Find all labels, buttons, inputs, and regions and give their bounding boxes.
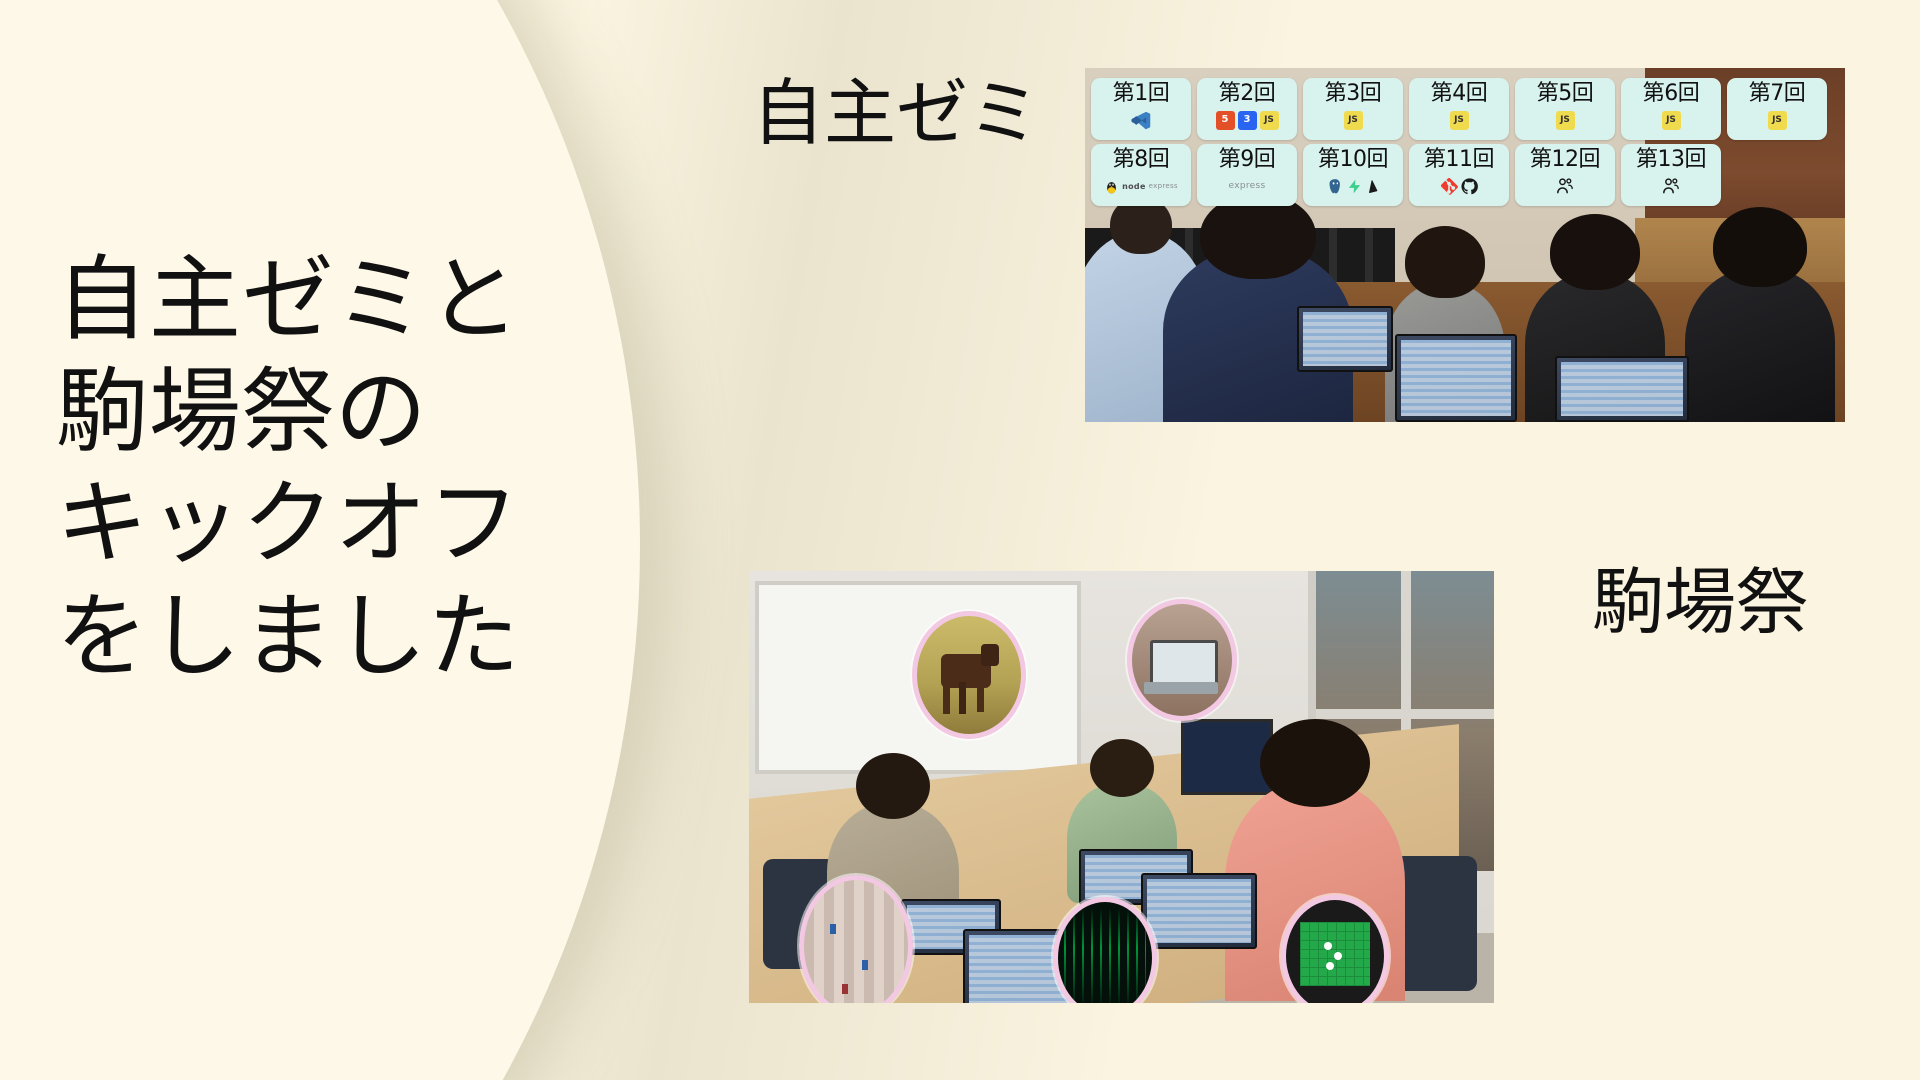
css3-icon: 3 — [1238, 111, 1257, 130]
page-title: 自主ゼミと 駒場祭の キックオフ をしました — [56, 244, 521, 693]
session-card-label: 第3回 — [1325, 82, 1382, 105]
people-icon — [1661, 176, 1681, 196]
session-card-10[interactable]: 第10回 — [1303, 144, 1403, 206]
session-card-1[interactable]: 第1回 — [1091, 78, 1191, 140]
session-card-4[interactable]: 第4回 JS — [1409, 78, 1509, 140]
horse-photo-bubble[interactable] — [912, 611, 1026, 739]
photo-komabasai — [749, 571, 1494, 1003]
session-card-label: 第12回 — [1530, 148, 1600, 171]
vscode-icon — [1131, 110, 1152, 131]
javascript-icon: JS — [1662, 111, 1681, 130]
linux-icon — [1104, 178, 1119, 195]
github-icon — [1461, 178, 1478, 195]
git-icon — [1441, 178, 1458, 195]
javascript-icon: JS — [1344, 111, 1363, 130]
student-5 — [1685, 267, 1835, 422]
laptop-right — [1141, 873, 1257, 949]
session-card-grid: 第1回 第2回 5 3 JS 第3回 JS — [1091, 78, 1843, 206]
express-icon: express — [1149, 182, 1178, 190]
laptop-photo-bubble[interactable] — [1127, 599, 1237, 721]
session-card-3[interactable]: 第3回 JS — [1303, 78, 1403, 140]
prisma-icon — [1365, 178, 1379, 195]
matrix-screen-bubble[interactable] — [1053, 897, 1157, 1003]
session-card-row-1: 第1回 第2回 5 3 JS 第3回 JS — [1091, 78, 1843, 140]
session-card-label: 第2回 — [1219, 82, 1276, 105]
caption-jishu-zemi: 自主ゼミ — [752, 77, 1040, 149]
session-card-label: 第4回 — [1431, 82, 1488, 105]
laptop-1 — [1297, 306, 1393, 372]
session-card-5[interactable]: 第5回 JS — [1515, 78, 1615, 140]
laptop-3 — [1555, 356, 1689, 422]
session-card-11[interactable]: 第11回 — [1409, 144, 1509, 206]
laptop-2 — [1395, 334, 1517, 422]
javascript-icon: JS — [1260, 111, 1279, 130]
javascript-icon: JS — [1556, 111, 1575, 130]
session-card-8[interactable]: 第8回 node express — [1091, 144, 1191, 206]
headline-line-3: キックオフ — [56, 468, 521, 580]
session-card-label: 第1回 — [1113, 82, 1170, 105]
supabase-icon — [1347, 178, 1362, 195]
session-card-label: 第11回 — [1424, 148, 1494, 171]
caption-komabasai: 駒場祭 — [1592, 566, 1808, 638]
session-card-label: 第7回 — [1749, 82, 1806, 105]
session-card-label: 第13回 — [1636, 148, 1706, 171]
html5-icon: 5 — [1216, 111, 1235, 130]
session-card-label: 第8回 — [1113, 148, 1170, 171]
session-card-2[interactable]: 第2回 5 3 JS — [1197, 78, 1297, 140]
session-card-6[interactable]: 第6回 JS — [1621, 78, 1721, 140]
session-card-label: 第6回 — [1643, 82, 1700, 105]
javascript-icon: JS — [1768, 111, 1787, 130]
session-card-7[interactable]: 第7回 JS — [1727, 78, 1827, 140]
postgresql-icon — [1327, 178, 1344, 195]
students-group — [1085, 207, 1845, 422]
people-icon — [1555, 176, 1575, 196]
session-card-label: 第5回 — [1537, 82, 1594, 105]
session-card-12[interactable]: 第12回 — [1515, 144, 1615, 206]
nodejs-icon: node — [1122, 182, 1146, 191]
express-icon: express — [1229, 181, 1266, 191]
session-card-label: 第9回 — [1219, 148, 1276, 171]
headline-line-2: 駒場祭の — [56, 356, 521, 468]
headline-line-4: をしました — [56, 581, 521, 693]
slide-root: 自主ゼミと 駒場祭の キックオフ をしました 自主ゼミ 駒場祭 — [0, 0, 1920, 1080]
session-card-13[interactable]: 第13回 — [1621, 144, 1721, 206]
javascript-icon: JS — [1450, 111, 1469, 130]
external-monitor — [1181, 719, 1273, 795]
session-card-label: 第10回 — [1318, 148, 1388, 171]
headline-line-1: 自主ゼミと — [56, 244, 521, 356]
session-card-9[interactable]: 第9回 express — [1197, 144, 1297, 206]
session-card-row-2: 第8回 node express 第9回 express — [1091, 144, 1843, 206]
